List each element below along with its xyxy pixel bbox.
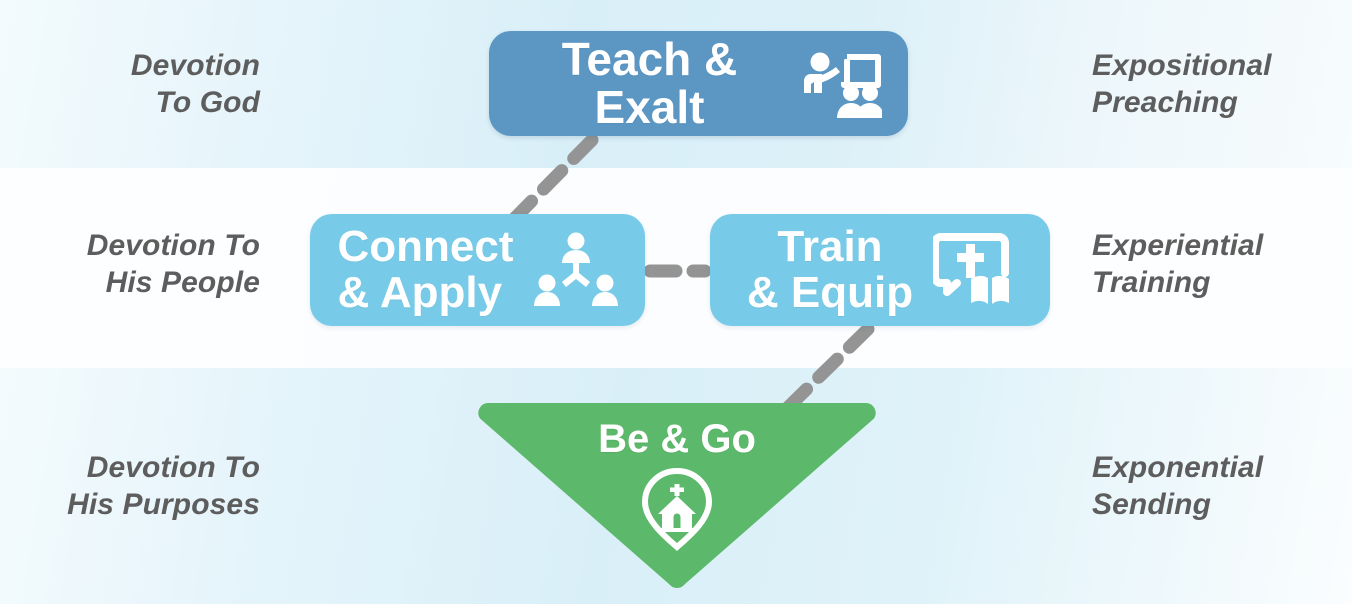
node-train-and-equip[interactable]: Train & Equip — [710, 214, 1050, 326]
node-connect-label: Connect & Apply — [338, 224, 514, 316]
people-network-icon — [534, 231, 618, 309]
node-be-label: Be & Go — [598, 419, 756, 461]
node-be-and-go[interactable]: Be & Go — [478, 403, 876, 589]
map-pin-church-icon — [639, 467, 715, 551]
right-label-expositional-preaching: Expositional Preaching — [1092, 48, 1352, 121]
left-label-devotion-to-his-purposes: Devotion To His Purposes — [0, 450, 260, 523]
left-label-devotion-to-god: Devotion To God — [0, 48, 260, 121]
speech-bubble-cross-book-icon — [933, 233, 1013, 307]
teacher-whiteboard-students-icon — [804, 50, 882, 118]
node-teach-and-exalt[interactable]: Teach & Exalt — [489, 31, 908, 136]
left-label-devotion-to-his-people: Devotion To His People — [0, 228, 260, 301]
node-connect-and-apply[interactable]: Connect & Apply — [310, 214, 645, 326]
be-and-go-content: Be & Go — [478, 403, 876, 589]
diagram-canvas: Devotion To God Devotion To His People D… — [0, 0, 1352, 604]
right-label-exponential-sending: Exponential Sending — [1092, 450, 1352, 523]
right-label-experiential-training: Experiential Training — [1092, 228, 1352, 301]
node-train-label: Train & Equip — [747, 224, 913, 316]
node-teach-label: Teach & Exalt — [515, 36, 784, 132]
